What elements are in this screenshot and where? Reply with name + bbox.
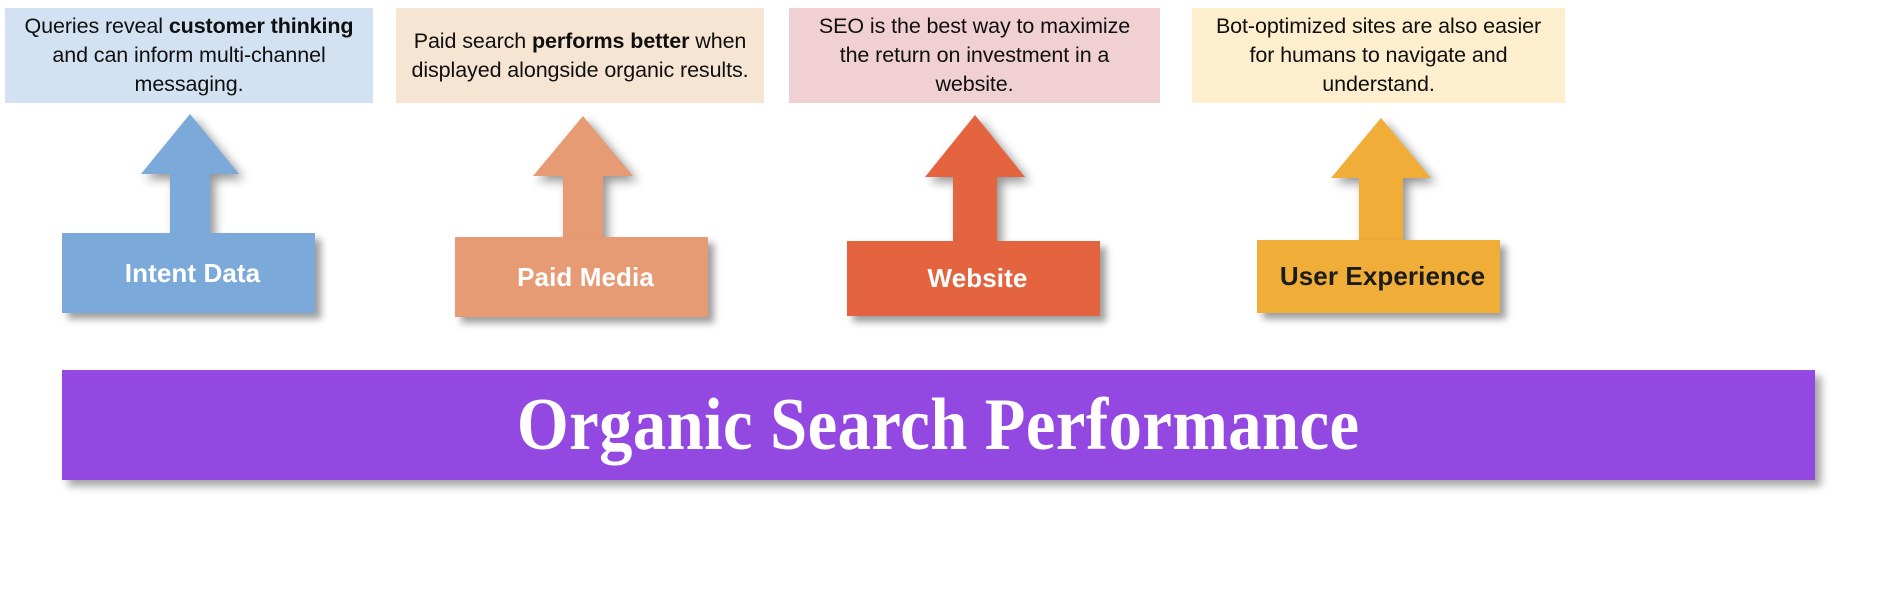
- pillar-box-intent-data[interactable]: Intent Data: [62, 233, 315, 313]
- diagram-canvas: Queries reveal customer thinking and can…: [0, 0, 1900, 612]
- caption-card-intent-data: Queries reveal customer thinking and can…: [5, 8, 373, 103]
- caption-text-bold: customer thinking: [169, 14, 354, 38]
- pillar-box-website[interactable]: Website: [847, 241, 1100, 316]
- caption-card-paid-media: Paid search performs better when display…: [396, 8, 764, 103]
- caption-text-intent-data: Queries reveal customer thinking and can…: [19, 12, 359, 98]
- caption-text-bold: performs better: [532, 29, 689, 53]
- caption-text-plain-before: Paid search: [414, 29, 532, 53]
- pillar-label-user-experience: User Experience: [1280, 261, 1485, 292]
- caption-text-user-experience: Bot-optimized sites are also easier for …: [1206, 12, 1551, 98]
- pillar-label-website: Website: [928, 263, 1028, 294]
- caption-text-paid-media: Paid search performs better when display…: [410, 27, 750, 85]
- pillar-label-intent-data: Intent Data: [125, 258, 260, 289]
- banner-title: Organic Search Performance: [517, 388, 1360, 462]
- caption-card-user-experience: Bot-optimized sites are also easier for …: [1192, 8, 1565, 103]
- pillar-label-paid-media: Paid Media: [517, 262, 654, 293]
- organic-search-performance-banner[interactable]: Organic Search Performance: [62, 370, 1815, 480]
- caption-text-plain-before: SEO is the best way to maximize the retu…: [819, 14, 1130, 96]
- caption-text-plain-before: Queries reveal: [25, 14, 169, 38]
- pillar-box-user-experience[interactable]: User Experience: [1257, 240, 1500, 313]
- caption-card-website: SEO is the best way to maximize the retu…: [789, 8, 1160, 103]
- caption-text-plain-after: and can inform multi-channel messaging.: [52, 43, 325, 96]
- caption-text-plain-before: Bot-optimized sites are also easier for …: [1216, 14, 1541, 96]
- caption-text-website: SEO is the best way to maximize the retu…: [803, 12, 1146, 98]
- pillar-box-paid-media[interactable]: Paid Media: [455, 237, 708, 317]
